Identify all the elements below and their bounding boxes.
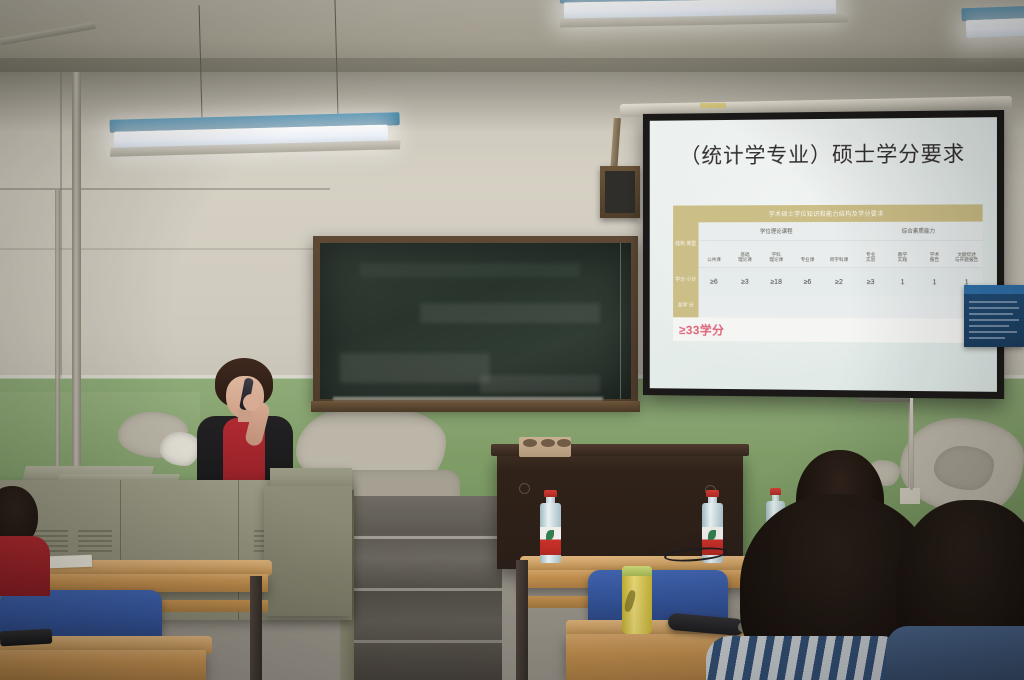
- water-bottle-left: [540, 490, 561, 563]
- notice-board: [964, 285, 1024, 347]
- col-header-7: 学术 报告: [918, 252, 950, 268]
- col-header-6: 教学 实践: [887, 252, 919, 268]
- cabinet-seam: [238, 480, 239, 620]
- col-header-4: 跨学科课: [823, 257, 855, 267]
- row-label-subtotal: 学分 小计: [673, 266, 698, 294]
- chalkboard-surface: [320, 243, 631, 399]
- projector-screen-surface: （统计学专业）硕士学分要求 学术硕士学位知识和能力结构及学分要求 结构 类型 学…: [650, 117, 997, 392]
- chalkboard: [313, 236, 638, 406]
- projector-screen: （统计学专业）硕士学分要求 学术硕士学位知识和能力结构及学分要求 结构 类型 学…: [643, 110, 1004, 399]
- cardboard-box-on-podium: [519, 437, 571, 457]
- conduit-junction-box: [900, 488, 920, 504]
- projector-screen-cord: [910, 398, 913, 490]
- slide-title: （统计学专业）硕士学分要求: [650, 137, 997, 170]
- wall-seam: [0, 188, 330, 190]
- step-edge: [352, 588, 502, 591]
- total-credits-value: ≥33学分: [679, 321, 724, 338]
- ceiling-light-top-right: [961, 4, 1024, 49]
- chalk-ledge: [311, 401, 640, 412]
- ceiling-light-left: [110, 112, 401, 160]
- student-left-red-shirt: [0, 536, 50, 596]
- row-label-total: 总学 分: [673, 294, 698, 318]
- slide-table-caption: 学术硕士学位知识和能力结构及学分要求: [673, 204, 983, 222]
- row-label-structure: 结构 类型: [673, 222, 698, 266]
- tea-thermos: [622, 566, 652, 634]
- smartphone-on-desk: [0, 629, 52, 647]
- credit-value-3: ≥6: [792, 278, 823, 285]
- lamp-tube: [966, 16, 1024, 38]
- credit-value-4: ≥2: [823, 279, 855, 286]
- wall-speaker: [600, 166, 640, 218]
- cabinet-front-right: [264, 486, 352, 616]
- ceiling-light-top-center: [560, 0, 849, 31]
- col-header-0: 公共课: [698, 257, 729, 267]
- step-edge: [352, 536, 502, 539]
- presenter-hand: [243, 394, 260, 411]
- group-header-theory: 学位理论课程: [698, 222, 854, 240]
- slide-table-row-labels: 结构 类型 学分 小计 总学 分: [673, 222, 698, 317]
- col-header-3: 专业课: [792, 257, 823, 267]
- slide-table-group-row: 学位理论课程 综合素质能力: [698, 222, 982, 242]
- roller-label-sticker: [700, 103, 726, 108]
- slide-table-value-row: ≥6 ≥3 ≥18 ≥6 ≥2 ≥3 1 1 1: [698, 268, 982, 297]
- col-header-1: 基础 理论课: [729, 252, 760, 267]
- col-header-2: 学科 理论课: [761, 252, 792, 267]
- desk-leg: [516, 560, 528, 680]
- classroom-photo: （统计学专业）硕士学分要求 学术硕士学位知识和能力结构及学分要求 结构 类型 学…: [0, 0, 1024, 680]
- credit-value-2: ≥18: [761, 278, 792, 285]
- student-foreground-denim-shirt: [886, 626, 1024, 680]
- step-edge: [352, 640, 502, 643]
- credit-value-6: 1: [887, 279, 919, 286]
- group-header-ability: 综合素质能力: [855, 222, 983, 240]
- credit-value-5: ≥3: [855, 279, 887, 286]
- slide-table: 学术硕士学位知识和能力结构及学分要求 结构 类型 学分 小计 总学 分 学位理论…: [673, 204, 983, 343]
- col-header-5: 专业 实验: [855, 252, 887, 268]
- wall-pipe-thin: [55, 190, 60, 490]
- col-header-8: 文献综述 与开题报告: [950, 251, 982, 267]
- credit-value-7: 1: [918, 279, 950, 286]
- wall-pipe: [72, 72, 81, 492]
- credit-value-0: ≥6: [698, 278, 729, 285]
- desk-leg: [250, 576, 262, 680]
- desk-left-front: [0, 650, 206, 680]
- slide-table-header-row: 公共课 基础 理论课 学科 理论课 专业课 跨学科课 专业 实验 教学 实践 学…: [698, 241, 982, 268]
- wall-seam-vertical: [60, 72, 62, 392]
- wall-seam: [0, 248, 322, 250]
- slide-table-total-row: ≥33学分: [673, 317, 983, 343]
- credit-value-1: ≥3: [729, 278, 760, 285]
- student-foreground-striped-shirt: [706, 636, 906, 680]
